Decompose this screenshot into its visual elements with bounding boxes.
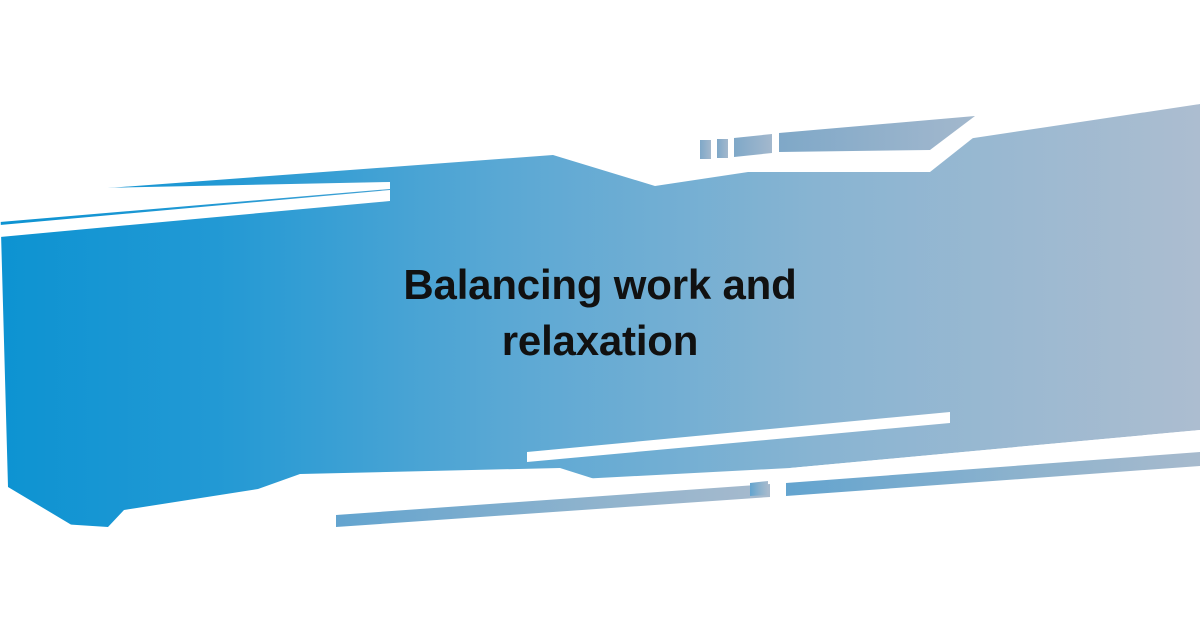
banner-artwork [0, 0, 1200, 630]
dash-square-2 [717, 139, 728, 158]
banner-graphic: Balancing work and relaxation [0, 0, 1200, 630]
dash-square-1 [700, 140, 711, 159]
dash-medium [734, 134, 772, 157]
bottom-dash-tiny [750, 481, 768, 496]
